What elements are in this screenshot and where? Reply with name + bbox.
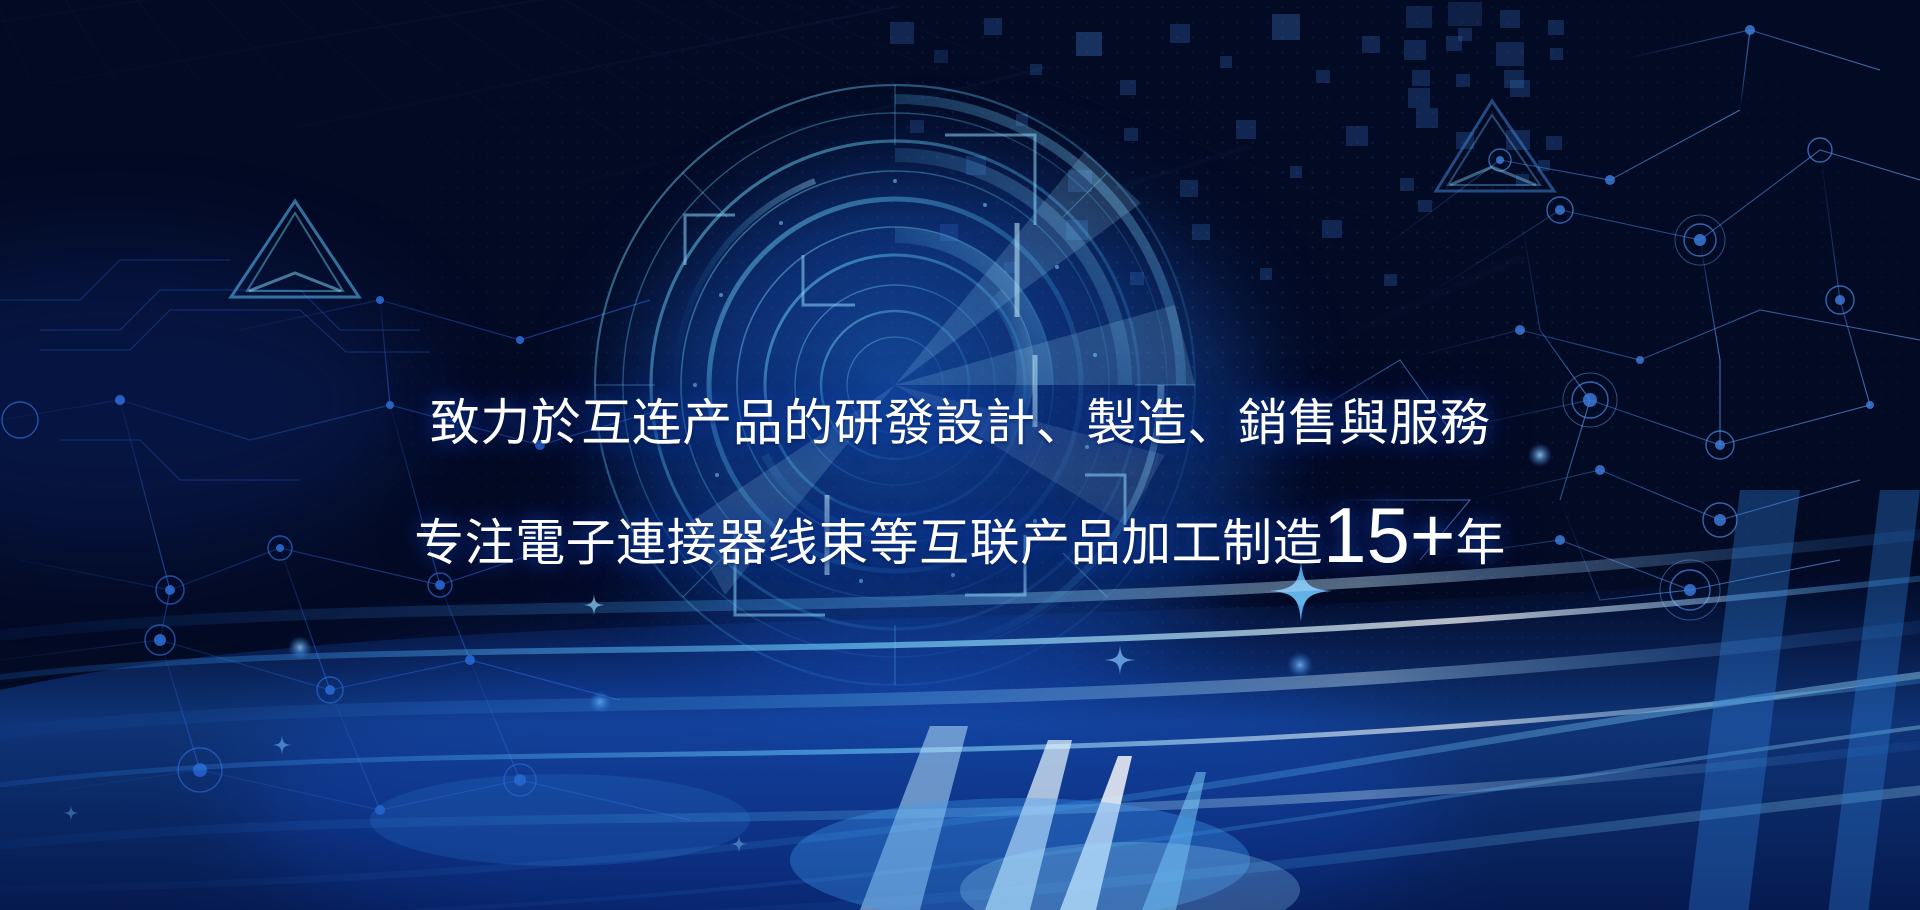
hero-copy: 致力於互连产品的研發設計、製造、銷售與服務 专注電子連接器线束等互联产品加工制造… [0, 0, 1920, 910]
headline-line-2: 专注電子連接器线束等互联产品加工制造 15+ 年 [414, 494, 1506, 572]
headline-line-2-prefix: 专注電子連接器线束等互联产品加工制造 [414, 518, 1323, 568]
headline-line-1: 致力於互连产品的研發設計、製造、銷售與服務 [430, 398, 1491, 448]
headline-line-2-suffix: 年 [1455, 518, 1506, 568]
hero-banner: 致力於互连产品的研發設計、製造、銷售與服務 专注電子連接器线束等互联产品加工制造… [0, 0, 1920, 910]
headline-years-highlight: 15+ [1323, 496, 1455, 574]
